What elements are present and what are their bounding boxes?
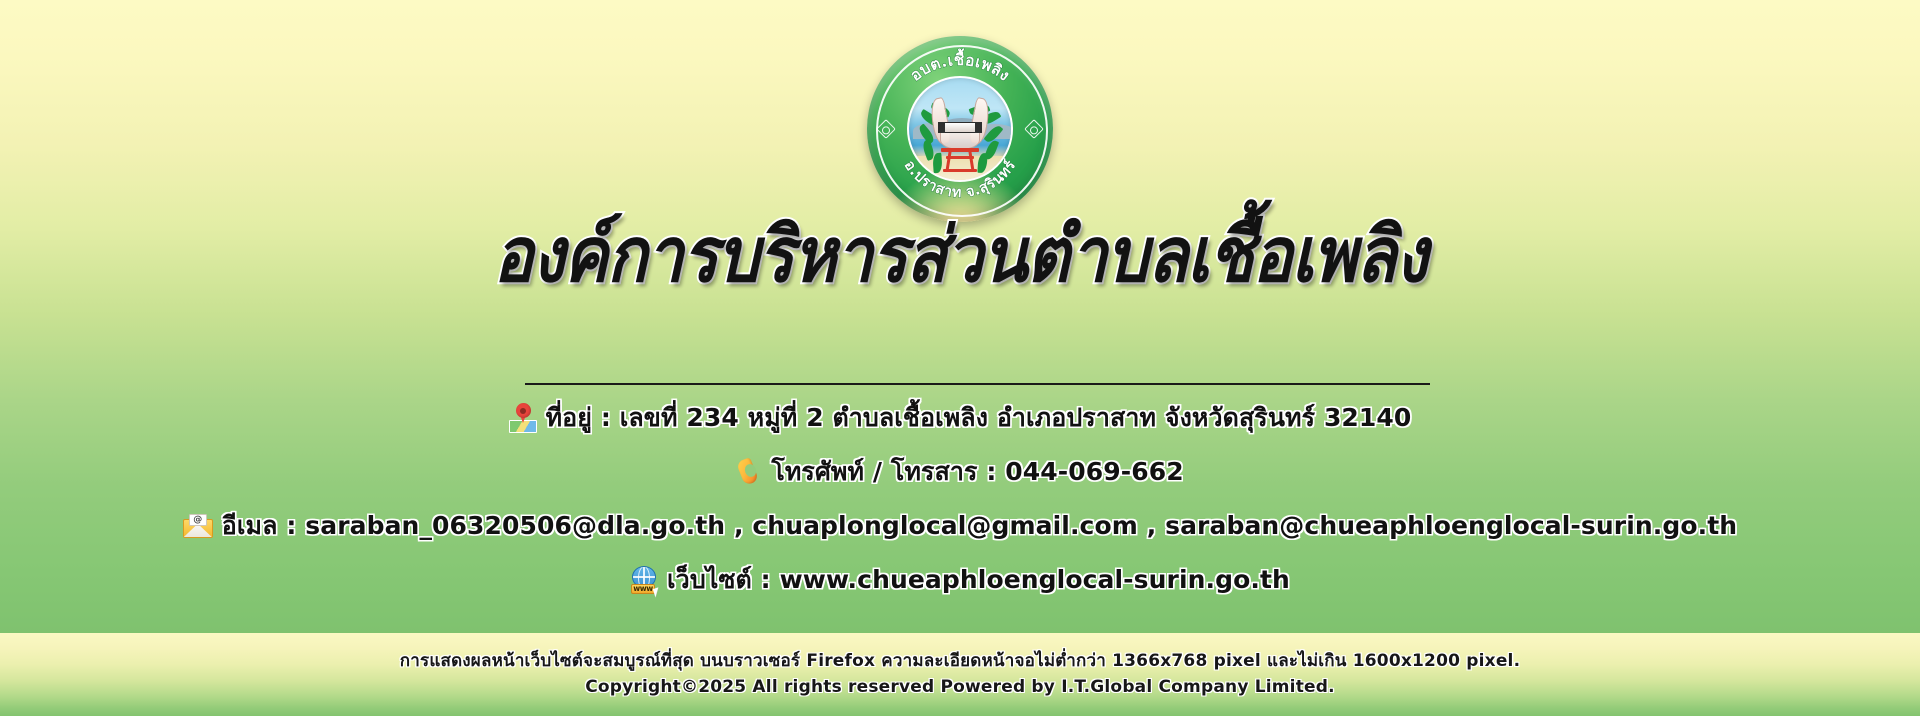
contact-address-row: ที่อยู่ : เลขที่ 234 หมู่ที่ 2 ตำบลเชื้อ… [0,398,1920,438]
svg-text:อบต.เชื้อเพลิง: อบต.เชื้อเพลิง [907,48,1013,85]
emblem-ring: อบต.เชื้อเพลิง อ.ปราสาท จ.สุรินทร์ [867,36,1053,222]
emblem-inner-scene [907,76,1013,182]
emblem-arc-bottom-label: อ.ปราสาท จ.สุรินทร์ [901,157,1020,201]
contact-website-text[interactable]: เว็บไซต์ : www.chueaphloenglocal-surin.g… [667,560,1290,600]
contact-address-text: ที่อยู่ : เลขที่ 234 หมู่ที่ 2 ตำบลเชื้อ… [546,398,1412,438]
contact-website-row: www เว็บไซต์ : www.chueaphloenglocal-sur… [0,560,1920,600]
svg-text:อ.ปราสาท จ.สุรินทร์: อ.ปราสาท จ.สุรินทร์ [901,157,1020,201]
emblem-leaf-icon [984,139,999,161]
envelope-icon: @ [183,514,213,538]
emblem-leaf-icon [932,153,942,174]
emblem-leaf-icon [977,153,987,174]
emblem-leaf-icon [984,123,1004,144]
emblem-beach-icon [909,156,1011,180]
emblem-leaf-icon [919,109,941,127]
emblem-leaf-icon [917,123,937,144]
map-pin-icon [509,403,537,433]
emblem-arc-top-label: อบต.เชื้อเพลิง [907,48,1013,85]
contact-phone-row: โทรศัพท์ / โทรสาร : 044-069-662 [0,452,1920,492]
page-title: องค์การบริหารส่วนตำบลเชื้อเพลิง [115,216,1805,294]
page-root: อบต.เชื้อเพลิง อ.ปราสาท จ.สุรินทร์ [0,0,1920,716]
telephone-icon [736,458,762,486]
emblem-ornament-right-icon [1024,119,1044,139]
contact-phone-text: โทรศัพท์ / โทรสาร : 044-069-662 [771,452,1183,492]
contact-info-block: ที่อยู่ : เลขที่ 234 หมู่ที่ 2 ตำบลเชื้อ… [0,398,1920,614]
contact-email-row: @ อีเมล : saraban_06320506@dla.go.th , c… [0,506,1920,546]
footer-copyright: Copyright©2025 All rights reserved Power… [0,674,1920,700]
globe-icon: www [630,566,658,594]
organization-emblem[interactable]: อบต.เชื้อเพลิง อ.ปราสาท จ.สุรินทร์ [867,36,1053,222]
emblem-horn-motif-icon [931,98,989,150]
contact-email-text[interactable]: อีเมล : saraban_06320506@dla.go.th , chu… [222,506,1737,546]
emblem-hill-icon [913,123,951,139]
emblem-leaf-icon [921,139,936,161]
emblem-pedestal-icon [941,148,979,172]
divider [525,383,1430,385]
emblem-arc-text: อบต.เชื้อเพลิง อ.ปราสาท จ.สุรินทร์ [867,36,1053,222]
emblem-leaf-icon [930,102,952,117]
emblem-hill-icon [939,118,985,139]
globe-www-label: www [631,584,655,594]
emblem-leaf-icon [969,102,991,117]
page-footer: การแสดงผลหน้าเว็บไซต์จะสมบูรณ์ที่สุด บนบ… [0,633,1920,716]
envelope-at-glyph: @ [189,514,207,526]
footer-browser-note: การแสดงผลหน้าเว็บไซต์จะสมบูรณ์ที่สุด บนบ… [0,648,1920,674]
emblem-hill-icon [975,124,1013,139]
cursor-arrow-icon [653,587,661,597]
emblem-ornament-left-icon [876,119,896,139]
emblem-leaf-icon [980,109,1002,127]
